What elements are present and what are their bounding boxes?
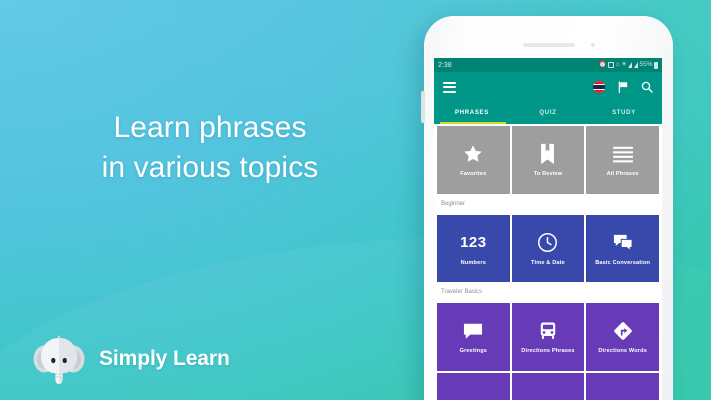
phone-volume-button xyxy=(421,91,425,123)
battery-icon xyxy=(654,62,658,69)
app-bar xyxy=(434,72,662,102)
tile-to-review[interactable]: To Review xyxy=(512,126,585,194)
tile-label: Numbers xyxy=(459,260,488,266)
brand-lockup: Simply Learn xyxy=(32,332,230,386)
promo-headline: Learn phrases in various topics xyxy=(0,108,420,187)
road-sign-icon xyxy=(612,319,634,343)
vpn-icon: ⌂ xyxy=(616,62,620,69)
brand-name: Simply Learn xyxy=(99,347,230,371)
tile-partial-1[interactable] xyxy=(437,373,510,400)
tile-all-phrases[interactable]: All Phrases xyxy=(586,126,659,194)
headline-line-1: Learn phrases xyxy=(0,108,420,148)
tile-label: All Phrases xyxy=(605,171,641,177)
tile-label: Directions Phrases xyxy=(519,348,576,354)
tile-label: Favorites xyxy=(458,171,488,177)
tile-directions-words[interactable]: Directions Words xyxy=(586,303,659,371)
tile-label: Time & Date xyxy=(529,260,567,266)
tab-study[interactable]: STUDY xyxy=(586,102,662,124)
battery-percent-label: 55% xyxy=(639,62,652,69)
tile-partial-3[interactable] xyxy=(586,373,659,400)
section-header-traveler-basics: Traveler Basics xyxy=(434,282,662,301)
tile-numbers[interactable]: 123 Numbers xyxy=(437,215,510,283)
tab-bar: PHRASES QUIZ STUDY xyxy=(434,102,662,124)
chat-bubbles-icon xyxy=(612,231,634,255)
tile-partial-2[interactable] xyxy=(512,373,585,400)
alarm-icon: ⏰ xyxy=(599,62,607,69)
bus-icon xyxy=(539,319,557,343)
phone-screen: 2:38 ⏰ ⌂ ☀ 55% xyxy=(434,58,662,400)
list-icon xyxy=(612,142,634,166)
thai-flag-icon[interactable] xyxy=(593,81,605,93)
hamburger-menu-icon[interactable] xyxy=(443,82,456,93)
elephant-icon xyxy=(32,332,86,386)
tile-favorites[interactable]: Favorites xyxy=(437,126,510,194)
tab-active-indicator xyxy=(440,122,506,125)
phone-speaker-grille xyxy=(523,43,575,47)
speech-bubble-icon xyxy=(462,319,484,343)
flag-icon[interactable] xyxy=(618,81,629,93)
section-grid-beginner: 123 Numbers Time & Date xyxy=(434,213,662,283)
status-bar: 2:38 ⏰ ⌂ ☀ 55% xyxy=(434,58,662,72)
phrases-content: Favorites To Review xyxy=(434,124,662,400)
signal-one-icon xyxy=(628,62,632,68)
headline-line-2: in various topics xyxy=(0,148,420,188)
tile-label: Basic Conversation xyxy=(593,260,652,266)
phone-front-camera xyxy=(591,43,595,47)
quick-access-grid: Favorites To Review xyxy=(434,124,662,194)
notification-icon: ☀ xyxy=(621,62,627,69)
section-grid-partial-row xyxy=(434,371,662,400)
section-header-beginner: Beginner xyxy=(434,194,662,213)
phone-mockup: 2:38 ⏰ ⌂ ☀ 55% xyxy=(424,16,673,400)
tile-directions-phrases[interactable]: Directions Phrases xyxy=(512,303,585,371)
numbers-123-icon: 123 xyxy=(460,231,487,255)
tile-basic-conversation[interactable]: Basic Conversation xyxy=(586,215,659,283)
star-icon xyxy=(462,142,484,166)
clock-icon xyxy=(537,231,558,255)
tile-label: To Review xyxy=(532,171,565,177)
tile-greetings[interactable]: Greetings xyxy=(437,303,510,371)
status-bar-icons: ⏰ ⌂ ☀ 55% xyxy=(599,62,658,69)
search-icon[interactable] xyxy=(641,81,653,93)
tile-time-and-date[interactable]: Time & Date xyxy=(512,215,585,283)
tab-quiz[interactable]: QUIZ xyxy=(510,102,586,124)
tile-label: Directions Words xyxy=(596,348,649,354)
signal-two-icon xyxy=(634,62,638,68)
sd-card-icon xyxy=(608,62,614,68)
status-bar-time: 2:38 xyxy=(438,62,452,69)
bookmark-icon xyxy=(539,142,556,166)
tile-label: Greetings xyxy=(458,348,489,354)
section-grid-traveler-basics: Greetings Directions Phrases xyxy=(434,301,662,371)
